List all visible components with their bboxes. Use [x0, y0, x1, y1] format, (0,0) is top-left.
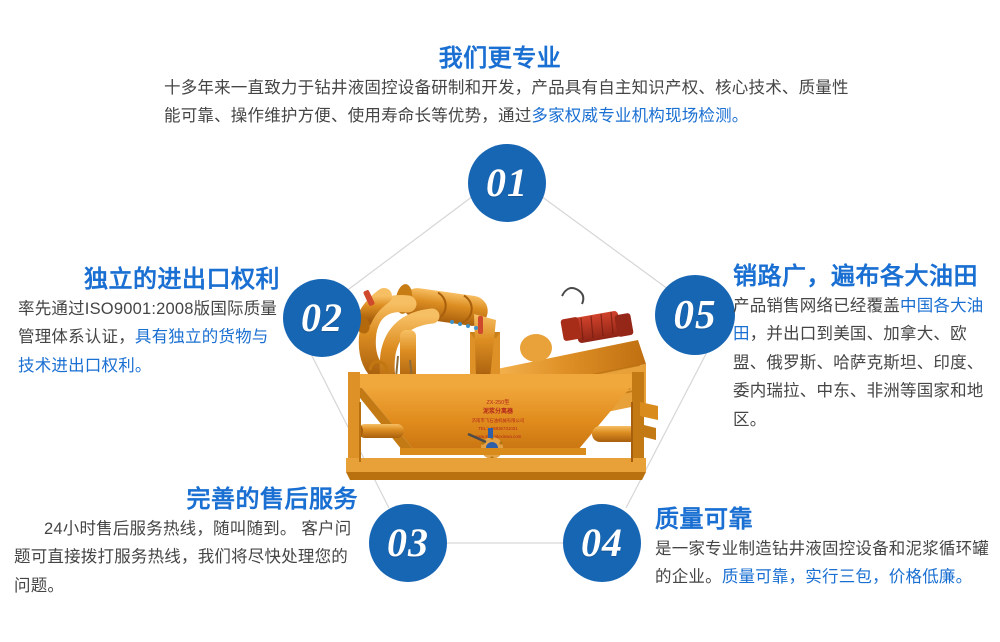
feature-block-05: 销路广，遍布各大油田 产品销售网络已经覆盖中国各大油田，并出口到美国、加拿大、欧…	[733, 262, 993, 434]
feature-body-03: 24小时售后服务热线，随叫随到。 客户问题可直接拨打服务热线，我们将尽快处理您的…	[14, 515, 358, 600]
feature-body-01: 十多年来一直致力于钻井液固控设备研制和开发，产品具有自主知识产权、核心技术、质量…	[150, 74, 850, 131]
machine-hopper-tank: ZX-250型 泥浆分离器 济南市飞石油机械有限公司 TEL：159367310…	[352, 362, 643, 460]
feature-block-02: 独立的进出口权利 率先通过ISO9001:2008版国际质量管理体系认证，具有独…	[18, 265, 280, 380]
feature-block-03: 完善的售后服务 24小时售后服务热线，随叫随到。 客户问题可直接拨打服务热线，我…	[14, 485, 358, 600]
badge-number-02: 02	[301, 294, 343, 341]
feature-block-04: 质量可靠 是一家专业制造钻井液固控设备和泥浆循环罐的企业。质量可靠，实行三包，价…	[655, 505, 993, 592]
feature-body-04-highlight: 质量可靠，实行三包，价格低廉。	[722, 568, 973, 586]
feature-body-04: 是一家专业制造钻井液固控设备和泥浆循环罐的企业。质量可靠，实行三包，价格低廉。	[655, 535, 993, 592]
feature-body-05-plain-2: ，并出口到美国、加拿大、欧盟、俄罗斯、哈萨克斯坦、印度、委内瑞拉、中东、非洲等国…	[733, 325, 984, 428]
feature-block-01: 我们更专业 十多年来一直致力于钻井液固控设备研制和开发，产品具有自主知识产权、核…	[150, 44, 850, 131]
badge-number-05: 05	[674, 290, 717, 338]
feature-title-04: 质量可靠	[655, 505, 993, 535]
feature-badge-04[interactable]: 04	[563, 504, 641, 582]
feature-title-02: 独立的进出口权利	[18, 265, 280, 295]
feature-body-01-highlight: 多家权威专业机构现场检测。	[531, 107, 748, 125]
badge-number-04: 04	[581, 519, 623, 566]
badge-number-01: 01	[486, 159, 528, 206]
mud-separator-machine-image: ZX-250型 泥浆分离器 济南市飞石油机械有限公司 TEL：159367310…	[340, 252, 660, 494]
feature-body-02: 率先通过ISO9001:2008版国际质量管理体系认证，具有独立的货物与技术进出…	[18, 295, 280, 380]
feature-title-01: 我们更专业	[150, 44, 850, 74]
badge-number-03: 03	[387, 519, 429, 566]
machine-decal-web: www.shenglexinwa.com	[475, 434, 522, 439]
machine-decal-model: ZX-250型	[486, 398, 510, 406]
feature-badge-02[interactable]: 02	[283, 279, 361, 357]
feature-body-05: 产品销售网络已经覆盖中国各大油田，并出口到美国、加拿大、欧盟、俄罗斯、哈萨克斯坦…	[733, 292, 993, 434]
feature-badge-01[interactable]: 01	[468, 144, 546, 222]
feature-title-05: 销路广，遍布各大油田	[733, 262, 993, 292]
infographic-root: ZX-250型 泥浆分离器 济南市飞石油机械有限公司 TEL：159367310…	[0, 0, 1000, 642]
feature-title-03: 完善的售后服务	[14, 485, 358, 515]
feature-badge-05[interactable]: 05	[655, 275, 735, 355]
feature-badge-03[interactable]: 03	[369, 504, 447, 582]
feature-body-05-plain-1: 产品销售网络已经覆盖	[733, 297, 900, 315]
machine-decal-tel: TEL：15936731031	[478, 426, 518, 431]
machine-decal-company: 济南市飞石油机械有限公司	[472, 417, 525, 424]
machine-decal-product: 泥浆分离器	[483, 407, 514, 415]
